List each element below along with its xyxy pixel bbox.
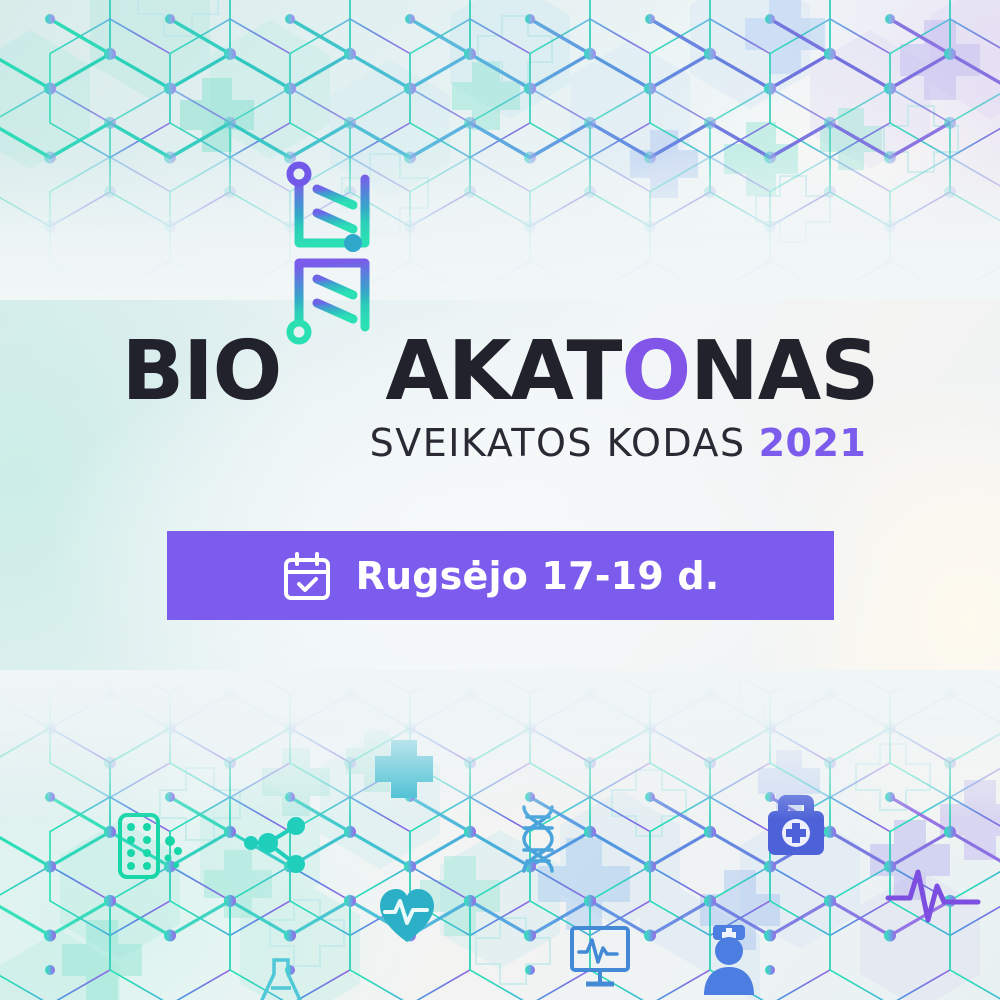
bottom-pattern-fade: [0, 670, 1000, 820]
background-glow-center: [0, 0, 1000, 1000]
logo-lockup: BIO: [0, 292, 1000, 465]
logo-word-akatonas-part1: AKAT: [385, 324, 621, 419]
logo-word-akatonas-part2: NAS: [690, 324, 878, 419]
background-glow-purple: [0, 0, 1000, 1000]
top-pattern-fade: [0, 150, 1000, 300]
background-glow-bottom-teal: [0, 0, 1000, 1000]
calendar-check-icon: [282, 551, 332, 601]
background-base: [0, 0, 1000, 1000]
background-glow-warm: [0, 0, 1000, 1000]
medical-cross-icon: [375, 740, 433, 798]
logo-word-bio: BIO: [122, 331, 282, 413]
logo-wordmark-row: BIO: [122, 292, 879, 417]
date-banner[interactable]: Rugsėjo 17-19 d.: [167, 531, 834, 620]
flask-icon: [261, 960, 301, 1000]
background-glow-left: [0, 0, 1000, 1000]
date-banner-label: Rugsėjo 17-19 d.: [356, 554, 720, 598]
background-glow-warm-top: [0, 0, 1000, 1000]
logo-word-akatonas: AKATONAS: [385, 331, 878, 413]
dna-strand-icon: [524, 807, 552, 871]
poster-canvas: BIO: [0, 0, 1000, 1000]
heartbeat-line-icon: [888, 872, 978, 920]
ecg-monitor-icon: [572, 928, 628, 984]
top-decoration-pattern: [0, 0, 1000, 300]
tagline-year: 2021: [759, 421, 867, 465]
tagline-text: SVEIKATOS KODAS: [370, 421, 746, 465]
dna-helix-icon: [277, 157, 395, 349]
bottom-decoration-pattern: [0, 670, 1000, 1000]
molecule-icon: [246, 819, 303, 871]
logo-word-akatonas-accent-o: O: [621, 324, 690, 419]
heart-pulse-icon: [380, 889, 434, 942]
first-aid-kit-icon: [768, 795, 824, 855]
pills-blister-icon: [120, 815, 182, 877]
logo-tagline-row: SVEIKATOS KODAS 2021: [370, 421, 867, 465]
doctor-icon: [704, 925, 754, 995]
